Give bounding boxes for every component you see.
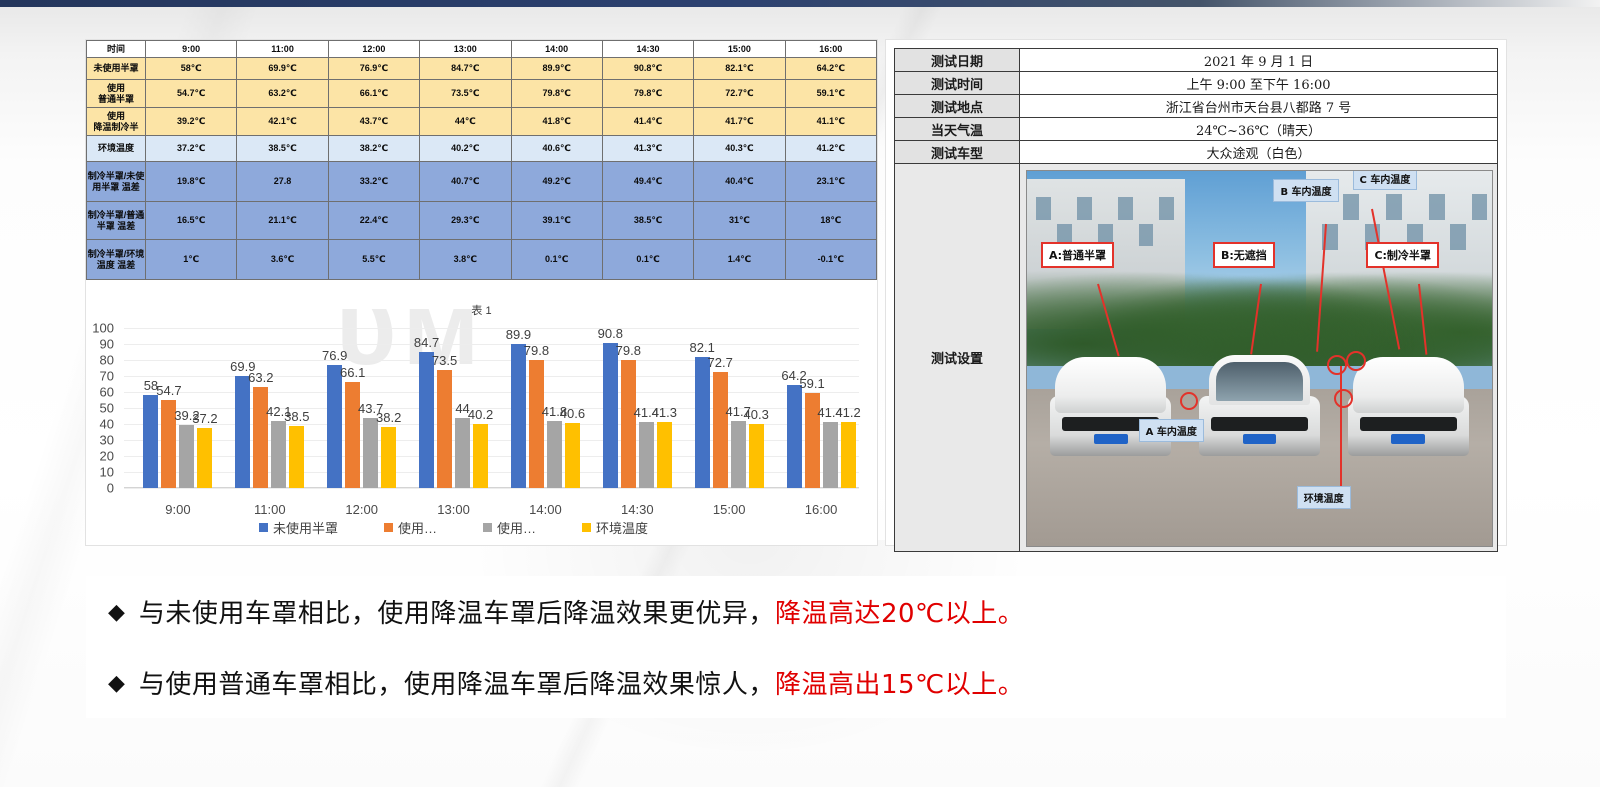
legend-label: 环境温度 — [596, 518, 648, 537]
photo-tag-temp-a: A 车内温度 — [1139, 419, 1204, 442]
table-cell: 27.8 — [237, 162, 328, 202]
test-setup-photo: A:普通半罩B:无遮挡C:制冷半罩B 车内温度C 车内温度A 车内温度环境温度 — [1026, 170, 1493, 547]
chart-bar — [197, 428, 212, 488]
chart-data-label: 89.9 — [506, 327, 531, 342]
table-cell: 44℃ — [420, 108, 511, 136]
sensor-marker — [1334, 389, 1353, 408]
chart-data-label: 40.6 — [560, 406, 585, 421]
table-cell: 1℃ — [146, 240, 237, 280]
table-cell: 23.1℃ — [785, 162, 876, 202]
photo-tag-temp-c: C 车内温度 — [1353, 170, 1418, 190]
table-header-cell: 15:00 — [694, 41, 785, 58]
chart-bar — [565, 423, 580, 488]
info-row: 测试时间上午 9:00 至下午 16:00 — [895, 72, 1498, 95]
table-cell: 49.4℃ — [602, 162, 693, 202]
chart-data-label: 38.5 — [284, 409, 309, 424]
table-cell: 49.2℃ — [511, 162, 602, 202]
table-cell: 16.5℃ — [146, 202, 237, 240]
table-row-header: 使用普通半罩 — [87, 80, 146, 108]
table-cell: 63.2℃ — [237, 80, 328, 108]
table-row-header: 制冷半罩/环境温度 温差 — [87, 240, 146, 280]
table-cell: 66.1℃ — [328, 80, 419, 108]
photo-tag-car-a: A:普通半罩 — [1041, 242, 1114, 268]
chart-x-tick-label: 12:00 — [345, 502, 378, 517]
table-cell: 79.8℃ — [511, 80, 602, 108]
table-caption: 表 1 — [86, 302, 877, 318]
table-row: 使用降温制冷半39.2℃42.1℃43.7℃44℃41.8℃41.4℃41.7℃… — [87, 108, 877, 136]
chart-bar — [695, 357, 710, 488]
photo-tag-car-b: B:无遮挡 — [1213, 242, 1275, 268]
chart-gridline — [124, 488, 859, 489]
info-value: 2021 年 9 月 1 日 — [1020, 49, 1498, 72]
chart-y-tick-label: 20 — [74, 449, 114, 464]
table-row-header: 制冷半罩/普通半罩 温差 — [87, 202, 146, 240]
chart-data-label: 79.8 — [616, 343, 641, 358]
table-cell: 3.8℃ — [420, 240, 511, 280]
table-cell: 84.7℃ — [420, 58, 511, 80]
chart-data-label: 63.2 — [248, 370, 273, 385]
chart-data-label: 73.5 — [432, 353, 457, 368]
chart-bar — [657, 422, 672, 488]
table-cell: 29.3℃ — [420, 202, 511, 240]
table-header-cell: 9:00 — [146, 41, 237, 58]
bullet-highlight: 降温高达20℃以上。 — [775, 599, 1024, 629]
chart-bar — [437, 370, 452, 488]
photo-tag-car-c: C:制冷半罩 — [1366, 242, 1438, 268]
chart-bar — [235, 376, 250, 488]
table-cell: 21.1℃ — [237, 202, 328, 240]
chart-legend-item[interactable]: 使用… — [384, 518, 437, 537]
chart-gridline — [124, 344, 859, 345]
table-cell: 41.1℃ — [785, 108, 876, 136]
table-header-cell: 11:00 — [237, 41, 328, 58]
table-cell: 41.3℃ — [602, 136, 693, 162]
photo-window — [1472, 194, 1488, 220]
chart-x-tick-label: 13:00 — [437, 502, 470, 517]
chart-data-label: 90.8 — [598, 326, 623, 341]
chart-bar — [547, 421, 562, 488]
info-value: 上午 9:00 至下午 16:00 — [1020, 72, 1498, 95]
table-cell: 89.9℃ — [511, 58, 602, 80]
photo-window — [1139, 224, 1154, 247]
chart-y-tick-label: 0 — [74, 481, 114, 496]
table-cell: 69.9℃ — [237, 58, 328, 80]
chart-y-tick-label: 60 — [74, 385, 114, 400]
table-cell: 40.2℃ — [420, 136, 511, 162]
info-key: 测试车型 — [895, 141, 1020, 164]
table-cell: 39.1℃ — [511, 202, 602, 240]
table-cell: 19.8℃ — [146, 162, 237, 202]
bullet-text: 与使用普通车罩相比，使用降温车罩后降温效果惊人，降温高出15℃以上。 — [139, 664, 1024, 701]
chart-data-label: 41.2 — [835, 405, 860, 420]
info-key: 测试日期 — [895, 49, 1020, 72]
table-cell: 64.2℃ — [785, 58, 876, 80]
chart-x-tick-label: 16:00 — [805, 502, 838, 517]
table-cell: 18℃ — [785, 202, 876, 240]
chart-gridline — [124, 376, 859, 377]
photo-window — [1159, 197, 1174, 220]
table-row-header: 环境温度 — [87, 136, 146, 162]
table-cell: 39.2℃ — [146, 108, 237, 136]
info-value: 浙江省台州市天台县八都路 7 号 — [1020, 95, 1498, 118]
photo-window — [1450, 224, 1466, 250]
chart-bar — [253, 387, 268, 488]
chart-bar — [381, 427, 396, 488]
legend-swatch-icon — [582, 523, 591, 532]
chart-y-tick-label: 100 — [74, 321, 114, 336]
table-row-header: 使用降温制冷半 — [87, 108, 146, 136]
info-row-setup: 测试设置A:普通半罩B:无遮挡C:制冷半罩B 车内温度C 车内温度A 车内温度环… — [895, 164, 1498, 552]
chart-y-tick-label: 90 — [74, 337, 114, 352]
table-cell: 79.8℃ — [602, 80, 693, 108]
table-cell: 58℃ — [146, 58, 237, 80]
photo-window — [1077, 197, 1092, 220]
table-cell: 0.1℃ — [602, 240, 693, 280]
table-row-header: 时间 — [87, 41, 146, 58]
chart-bar — [289, 426, 304, 488]
info-row: 测试地点浙江省台州市天台县八都路 7 号 — [895, 95, 1498, 118]
sensor-marker — [1346, 351, 1366, 371]
table-cell: 38.5℃ — [602, 202, 693, 240]
chart-bar — [621, 360, 636, 488]
table-cell: 41.7℃ — [694, 108, 785, 136]
table-cell: 82.1℃ — [694, 58, 785, 80]
info-value: 大众途观（白色） — [1020, 141, 1498, 164]
chart-y-tick-label: 40 — [74, 417, 114, 432]
table-header-cell: 14:30 — [602, 41, 693, 58]
info-row: 测试日期2021 年 9 月 1 日 — [895, 49, 1498, 72]
chart-data-label: 84.7 — [414, 335, 439, 350]
chart-bar — [419, 352, 434, 488]
chart-legend-item[interactable]: 未使用半罩 — [259, 518, 338, 537]
chart-data-label: 82.1 — [690, 340, 715, 355]
chart-data-label: 72.7 — [708, 355, 733, 370]
table-cell: 5.5℃ — [328, 240, 419, 280]
chart-legend: 未使用半罩使用…使用…环境温度 — [86, 518, 821, 537]
temperature-bar-chart: 01020304050607080901005854.739.237.29:00… — [86, 318, 877, 545]
info-key-setup: 测试设置 — [895, 164, 1020, 552]
chart-plot-area: 01020304050607080901005854.739.237.29:00… — [124, 328, 859, 488]
chart-bar — [713, 372, 728, 488]
chart-gridline — [124, 392, 859, 393]
table-cell: 37.2℃ — [146, 136, 237, 162]
chart-bar — [143, 395, 158, 488]
legend-label: 使用… — [398, 518, 437, 537]
bullet-highlight: 降温高出15℃以上。 — [775, 670, 1024, 700]
table-cell: 40.6℃ — [511, 136, 602, 162]
photo-car-c — [1348, 359, 1469, 457]
chart-x-tick-label: 15:00 — [713, 502, 746, 517]
chart-legend-item[interactable]: 环境温度 — [582, 518, 648, 537]
bullet-item: ◆ 与使用普通车罩相比，使用降温车罩后降温效果惊人，降温高出15℃以上。 — [86, 647, 1506, 718]
bullet-item: ◆ 与未使用车罩相比，使用降温车罩后降温效果更优异，降温高达20℃以上。 — [86, 576, 1506, 647]
slide-canvas: ᴜᴍ 时间9:0011:0012:0013:0014:0014:3015:001… — [0, 0, 1600, 787]
table-cell: 76.9℃ — [328, 58, 419, 80]
info-key: 测试地点 — [895, 95, 1020, 118]
table-cell: 22.4℃ — [328, 202, 419, 240]
table-cell: 41.2℃ — [785, 136, 876, 162]
table-cell: 33.2℃ — [328, 162, 419, 202]
test-info-table: 测试日期2021 年 9 月 1 日测试时间上午 9:00 至下午 16:00测… — [894, 48, 1498, 552]
chart-data-label: 40.3 — [744, 407, 769, 422]
table-cell: -0.1℃ — [785, 240, 876, 280]
table-header-cell: 16:00 — [785, 41, 876, 58]
table-header-cell: 14:00 — [511, 41, 602, 58]
table-row-header: 制冷半罩/未使用半罩 温差 — [87, 162, 146, 202]
chart-bar — [749, 424, 764, 488]
chart-data-label: 40.2 — [468, 407, 493, 422]
table-row: 制冷半罩/未使用半罩 温差19.8℃27.833.2℃40.7℃49.2℃49.… — [87, 162, 877, 202]
photo-tag-temp-b: B 车内温度 — [1273, 179, 1338, 202]
table-cell: 41.8℃ — [511, 108, 602, 136]
setup-photo-cell: A:普通半罩B:无遮挡C:制冷半罩B 车内温度C 车内温度A 车内温度环境温度 — [1020, 164, 1498, 552]
chart-data-label: 79.8 — [524, 343, 549, 358]
table-cell: 40.3℃ — [694, 136, 785, 162]
table-row: 未使用半罩58℃69.9℃76.9℃84.7℃89.9℃90.8℃82.1℃64… — [87, 58, 877, 80]
table-row: 环境温度37.2℃38.5℃38.2℃40.2℃40.6℃41.3℃40.3℃4… — [87, 136, 877, 162]
info-row: 当天气温24℃~36℃（晴天） — [895, 118, 1498, 141]
table-cell: 54.7℃ — [146, 80, 237, 108]
photo-window — [1036, 197, 1051, 220]
conclusion-panel: ◆ 与未使用车罩相比，使用降温车罩后降温效果更优异，降温高达20℃以上。 ◆ 与… — [86, 576, 1506, 718]
chart-bar — [529, 360, 544, 488]
chart-bar — [473, 424, 488, 488]
table-cell: 3.6℃ — [237, 240, 328, 280]
photo-car-b — [1199, 359, 1320, 457]
chart-y-tick-label: 80 — [74, 353, 114, 368]
chart-x-tick-label: 9:00 — [165, 502, 190, 517]
sensor-marker — [1327, 355, 1347, 375]
chart-data-label: 54.7 — [156, 383, 181, 398]
chart-x-tick-label: 11:00 — [254, 502, 286, 517]
bullet-marker-icon: ◆ — [108, 672, 125, 694]
table-row-header: 未使用半罩 — [87, 58, 146, 80]
chart-y-tick-label: 10 — [74, 465, 114, 480]
chart-bar — [841, 422, 856, 488]
table-cell: 0.1℃ — [511, 240, 602, 280]
chart-bar — [603, 343, 618, 488]
legend-swatch-icon — [384, 523, 393, 532]
photo-window — [1343, 194, 1359, 220]
chart-bar — [345, 382, 360, 488]
photo-window — [1118, 197, 1133, 220]
table-cell: 38.5℃ — [237, 136, 328, 162]
table-cell: 42.1℃ — [237, 108, 328, 136]
chart-data-label: 59.1 — [799, 376, 824, 391]
table-cell: 1.4℃ — [694, 240, 785, 280]
chart-data-label: 38.2 — [376, 410, 401, 425]
chart-bar — [363, 418, 378, 488]
temperature-data-table: 时间9:0011:0012:0013:0014:0014:3015:0016:0… — [86, 40, 877, 280]
legend-label: 未使用半罩 — [273, 518, 338, 537]
chart-data-label: 76.9 — [322, 348, 347, 363]
chart-bar — [823, 422, 838, 488]
chart-gridline — [124, 328, 859, 329]
bullet-text: 与未使用车罩相比，使用降温车罩后降温效果更优异，降温高达20℃以上。 — [139, 593, 1024, 630]
chart-y-tick-label: 50 — [74, 401, 114, 416]
chart-data-label: 66.1 — [340, 365, 365, 380]
table-cell: 31℃ — [694, 202, 785, 240]
table-cell: 40.4℃ — [694, 162, 785, 202]
chart-legend-item[interactable]: 使用… — [483, 518, 536, 537]
table-row: 制冷半罩/普通半罩 温差16.5℃21.1℃22.4℃29.3℃39.1℃38.… — [87, 202, 877, 240]
bullet-marker-icon: ◆ — [108, 601, 125, 623]
table-cell: 40.7℃ — [420, 162, 511, 202]
chart-bar — [731, 421, 746, 488]
table-cell: 73.5℃ — [420, 80, 511, 108]
table-cell: 59.1℃ — [785, 80, 876, 108]
table-cell: 72.7℃ — [694, 80, 785, 108]
table-row: 使用普通半罩54.7℃63.2℃66.1℃73.5℃79.8℃79.8℃72.7… — [87, 80, 877, 108]
chart-x-tick-label: 14:00 — [529, 502, 562, 517]
table-cell: 41.4℃ — [602, 108, 693, 136]
photo-window — [1429, 194, 1445, 220]
chart-bar — [327, 365, 342, 488]
legend-label: 使用… — [497, 518, 536, 537]
chart-bar — [179, 425, 194, 488]
left-content-panel: ᴜᴍ 时间9:0011:0012:0013:0014:0014:3015:001… — [86, 40, 877, 545]
chart-bar — [787, 385, 802, 488]
table-cell: 90.8℃ — [602, 58, 693, 80]
table-row: 制冷半罩/环境温度 温差1℃3.6℃5.5℃3.8℃0.1℃0.1℃1.4℃-0… — [87, 240, 877, 280]
table-row: 时间9:0011:0012:0013:0014:0014:3015:0016:0… — [87, 41, 877, 58]
chart-data-label: 37.2 — [192, 411, 217, 426]
legend-swatch-icon — [483, 523, 492, 532]
info-value: 24℃~36℃（晴天） — [1020, 118, 1498, 141]
table-header-cell: 12:00 — [328, 41, 419, 58]
chart-y-tick-label: 70 — [74, 369, 114, 384]
info-key: 当天气温 — [895, 118, 1020, 141]
chart-bar — [455, 418, 470, 488]
chart-y-tick-label: 30 — [74, 433, 114, 448]
chart-bar — [639, 422, 654, 488]
table-cell: 43.7℃ — [328, 108, 419, 136]
chart-data-label: 41.3 — [652, 405, 677, 420]
legend-swatch-icon — [259, 523, 268, 532]
info-row: 测试车型大众途观（白色） — [895, 141, 1498, 164]
chart-bar — [271, 421, 286, 488]
chart-bar — [511, 344, 526, 488]
table-cell: 38.2℃ — [328, 136, 419, 162]
slide-top-accent-bar — [0, 0, 1600, 7]
chart-x-tick-label: 14:30 — [621, 502, 654, 517]
photo-tag-temp-ambient: 环境温度 — [1297, 486, 1351, 509]
right-content-panel: 测试日期2021 年 9 月 1 日测试时间上午 9:00 至下午 16:00测… — [886, 40, 1506, 545]
info-key: 测试时间 — [895, 72, 1020, 95]
photo-window — [1386, 194, 1402, 220]
table-header-cell: 13:00 — [420, 41, 511, 58]
